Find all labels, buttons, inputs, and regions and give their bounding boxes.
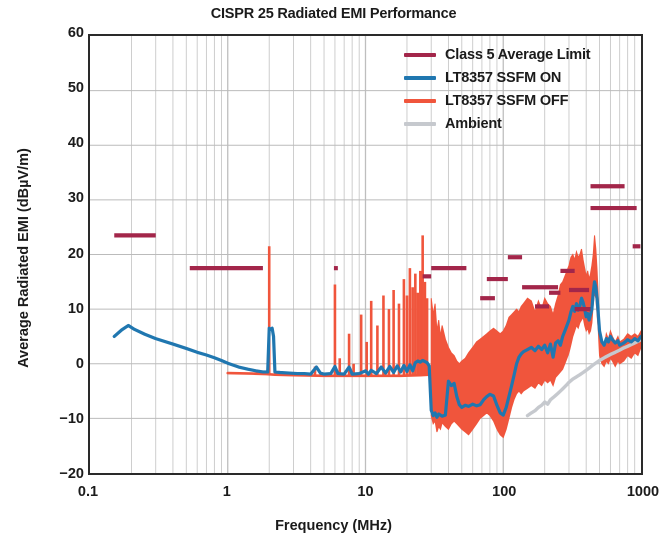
x-tick-label: 0.1: [78, 484, 98, 500]
x-tick-label: 1: [223, 484, 231, 500]
chart-container: CISPR 25 Radiated EMI Performance 605040…: [0, 0, 667, 554]
x-tick-label: 1000: [627, 484, 659, 500]
legend-item-2[interactable]: LT8357 SSFM OFF: [404, 90, 636, 111]
legend-label: Class 5 Average Limit: [445, 47, 590, 63]
legend-item-3[interactable]: Ambient: [404, 113, 636, 134]
legend-color-swatch: [404, 122, 436, 126]
legend-label: LT8357 SSFM OFF: [445, 93, 568, 109]
x-axis-title: Frequency (MHz): [0, 518, 667, 534]
legend-label: Ambient: [445, 116, 502, 132]
legend-label: LT8357 SSFM ON: [445, 70, 561, 86]
x-tick-label: 100: [492, 484, 516, 500]
chart-legend: Class 5 Average LimitLT8357 SSFM ONLT835…: [404, 44, 636, 134]
legend-item-0[interactable]: Class 5 Average Limit: [404, 44, 636, 65]
legend-color-swatch: [404, 99, 436, 103]
legend-item-1[interactable]: LT8357 SSFM ON: [404, 67, 636, 88]
x-tick-label: 10: [357, 484, 373, 500]
legend-color-swatch: [404, 76, 436, 80]
legend-color-swatch: [404, 53, 436, 57]
